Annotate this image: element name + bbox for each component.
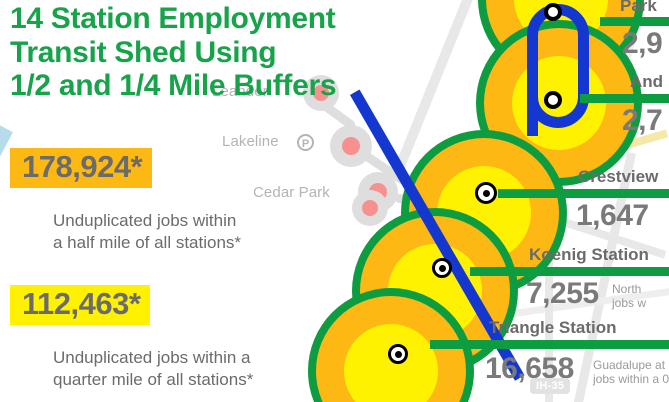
callout-park-value: 2,9 [622,27,662,61]
callout-crestview-bar [498,189,669,198]
page-title: 14 Station Employment Transit Shed Using… [10,2,480,103]
stat-description-quarter-mile-line2: quarter mile of all stations* [53,369,253,392]
map-label-lakeline: Lakeline [222,133,279,150]
map-station-node-lakeline [330,125,372,167]
title-line-1: 14 Station Employment [10,2,480,36]
callout-anderson-name: And [630,72,663,92]
callout-koenig-bar [470,267,669,276]
callout-triangle-name: Triangle Station [489,318,617,338]
station-marker-1[interactable] [544,3,562,21]
map-station-node-extra [352,190,388,226]
callout-koenig-sub-line2: jobs w [612,296,646,311]
callout-crestview-value: 1,647 [576,199,649,233]
callout-park-bar [600,17,669,26]
callout-koenig-value: 7,255 [526,277,599,311]
stat-value-quarter-mile: 112,463* [10,285,150,325]
callout-koenig-name: Koenig Station [529,245,649,265]
highway-shield-ih35: IH-35 [530,378,570,394]
stat-description-quarter-mile-line1: Unduplicated jobs within a [53,347,251,370]
callout-anderson-bar [580,94,669,103]
callout-anderson-value: 2,7 [622,104,662,138]
parking-icon: P [297,134,314,151]
station-marker-4[interactable] [432,258,452,278]
station-marker-5[interactable] [388,344,408,364]
stat-description-half-mile-line2: a half mile of all stations* [53,232,241,255]
callout-crestview-name: Crestview [578,167,658,187]
station-marker-3[interactable] [475,182,497,204]
callout-triangle-bar [430,340,669,349]
station-marker-2[interactable] [544,91,562,109]
title-line-3: 1/2 and 1/4 Mile Buffers [10,69,480,103]
map-label-cedar-park: Cedar Park [253,184,330,201]
callout-triangle-sub-line2: jobs within a 0 [593,372,669,387]
callout-koenig-sub-line1: North [612,282,641,297]
callout-triangle-sub-line1: Guadalupe at [593,358,665,373]
rail-line-connector [527,96,538,136]
stat-value-half-mile: 178,924* [10,148,152,188]
callout-park-name: Park [620,0,657,16]
infographic-canvas: Leander Lakeline P Cedar Park [0,0,669,402]
stat-description-half-mile-line1: Unduplicated jobs within [53,210,236,233]
title-line-2: Transit Shed Using [10,36,480,70]
